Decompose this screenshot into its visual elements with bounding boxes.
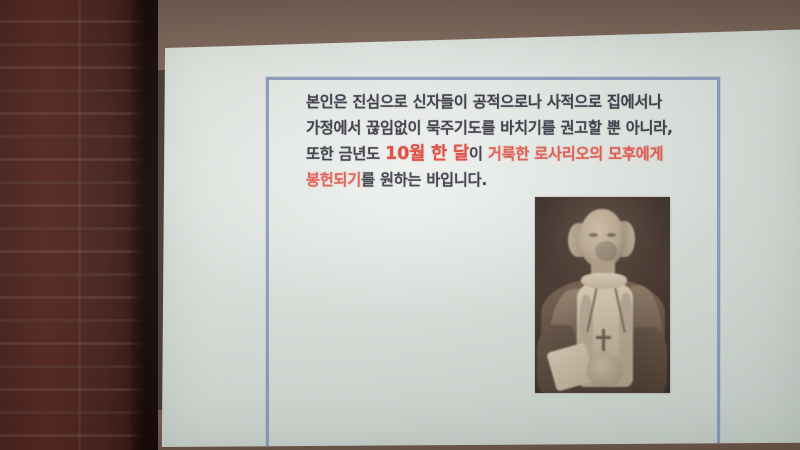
wall-corner-shadow (130, 0, 158, 450)
slide-text-line-4-segment-2: 를 원하는 바입니다. (361, 171, 487, 189)
slide-text-line-1: 본인은 진심으로 신자들이 공적으로나 사적으로 집에서나 (306, 89, 726, 115)
slide-text-highlight-rosary-queen: 거룩한 로사리오의 모후에게 (488, 145, 663, 163)
brick-wall (0, 0, 150, 450)
brick-wall-courses (0, 0, 150, 450)
slide-text-line-4: 봉헌되기를 원하는 바입니다. (306, 167, 726, 193)
portrait-photo-image (535, 197, 670, 393)
slide-text-line-3: 또한 금년도 10월 한 달이 거룩한 로사리오의 모후에게 (306, 141, 726, 167)
slide-text-line-3-segment-1: 또한 금년도 (306, 145, 385, 163)
slide-text-block: 본인은 진심으로 신자들이 공적으로나 사적으로 집에서나 가정에서 끊임없이 … (306, 89, 726, 193)
portrait-sepia-overlay (535, 197, 670, 393)
screenshot-root: 본인은 진심으로 신자들이 공적으로나 사적으로 집에서나 가정에서 끊임없이 … (0, 0, 800, 450)
projection-screen: 본인은 진심으로 신자들이 공적으로나 사적으로 집에서나 가정에서 끊임없이 … (158, 27, 800, 447)
slide-text-highlight-october: 10월 한 달 (385, 144, 469, 164)
portrait-photo (535, 197, 670, 393)
slide-text-highlight-consecration: 봉헌되기 (306, 171, 361, 189)
slide-text-line-2-segment-1: 가정에서 끊임없이 묵주기도를 바치기를 권고할 뿐 아니라, (306, 119, 673, 137)
slide-text-line-3-segment-3: 이 (469, 145, 488, 163)
slide-text-line-2: 가정에서 끊임없이 묵주기도를 바치기를 권고할 뿐 아니라, (306, 115, 726, 141)
slide-text-line-1-segment-1: 본인은 진심으로 신자들이 공적으로나 사적으로 집에서나 (306, 93, 662, 111)
